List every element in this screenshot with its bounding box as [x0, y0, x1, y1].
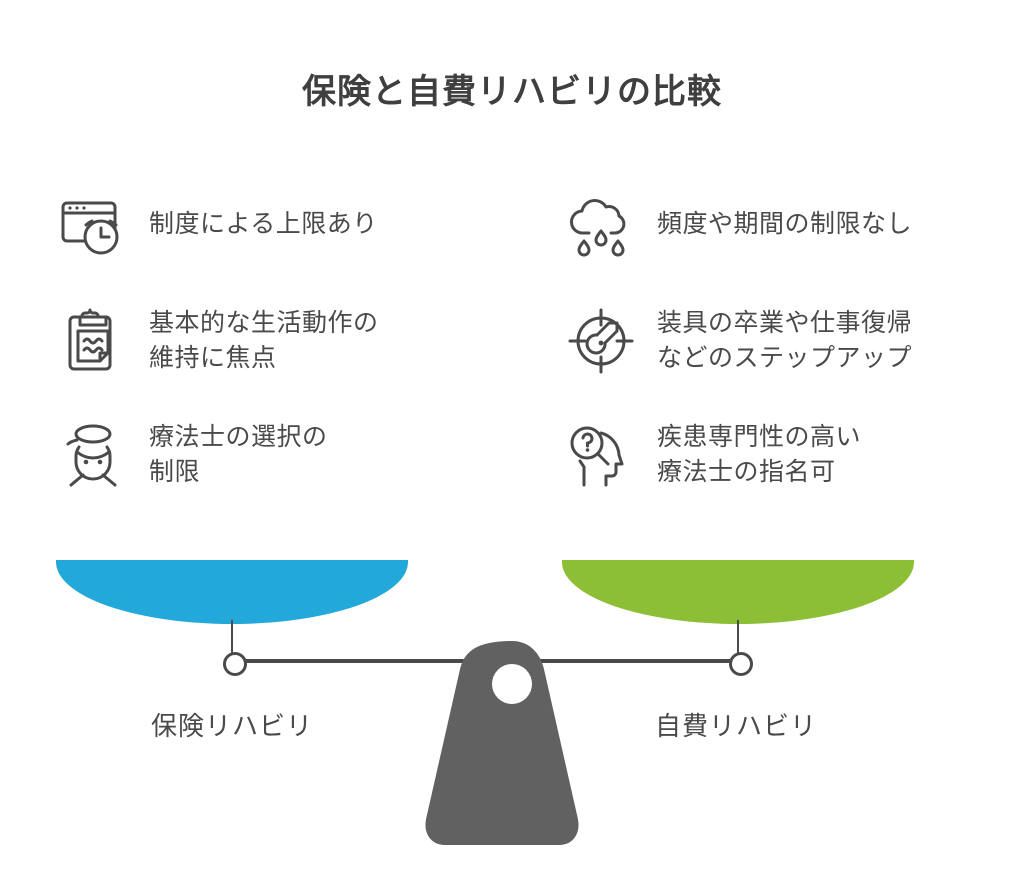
private-pan-hanger: [737, 620, 739, 656]
feature-item: 装具の卒業や仕事復帰 などのステップアップ: [563, 298, 983, 384]
insurance-feature-column: 制度による上限あり 基本的な生活動作の 維持に焦点: [55, 182, 475, 498]
feature-text: 基本的な生活動作の 維持に焦点: [149, 306, 379, 377]
feature-item: 制度による上限あり: [55, 182, 475, 268]
feature-item: 頻度や期間の制限なし: [563, 182, 983, 268]
infographic-canvas: 保険と自費リハビリの比較 制度による上限あり: [0, 0, 1024, 872]
insurance-pan-hanger: [231, 620, 233, 656]
private-pan: [562, 560, 914, 624]
clipboard-document-icon: [55, 303, 131, 379]
insurance-label: 保険リハビリ: [52, 706, 412, 743]
fulcrum: [404, 640, 620, 870]
target-arrow-icon: [563, 303, 639, 379]
feature-item: 基本的な生活動作の 維持に焦点: [55, 298, 475, 384]
private-feature-column: 頻度や期間の制限なし 装具の卒業や仕事復帰 などのステップアップ: [563, 182, 983, 498]
feature-text: 療法士の選択の 制限: [149, 420, 328, 491]
insurance-pan-knob: [223, 652, 247, 676]
feature-text: 頻度や期間の制限なし: [657, 207, 912, 243]
insurance-pan: [56, 560, 408, 624]
balance-scale: 保険リハビリ 自費リハビリ: [0, 548, 1024, 848]
feature-text: 装具の卒業や仕事復帰 などのステップアップ: [657, 306, 912, 377]
feature-item: 疾患専門性の高い 療法士の指名可: [563, 412, 983, 498]
feature-text: 制度による上限あり: [149, 207, 378, 243]
person-halo-icon: [55, 417, 131, 493]
private-pan-knob: [729, 652, 753, 676]
feature-text: 疾患専門性の高い 療法士の指名可: [657, 420, 861, 491]
private-label: 自費リハビリ: [556, 706, 916, 743]
rain-cloud-icon: [563, 187, 639, 263]
page-title: 保険と自費リハビリの比較: [0, 72, 1024, 113]
browser-clock-icon: [55, 187, 131, 263]
feature-item: 療法士の選択の 制限: [55, 412, 475, 498]
head-question-magnifier-icon: [563, 417, 639, 493]
